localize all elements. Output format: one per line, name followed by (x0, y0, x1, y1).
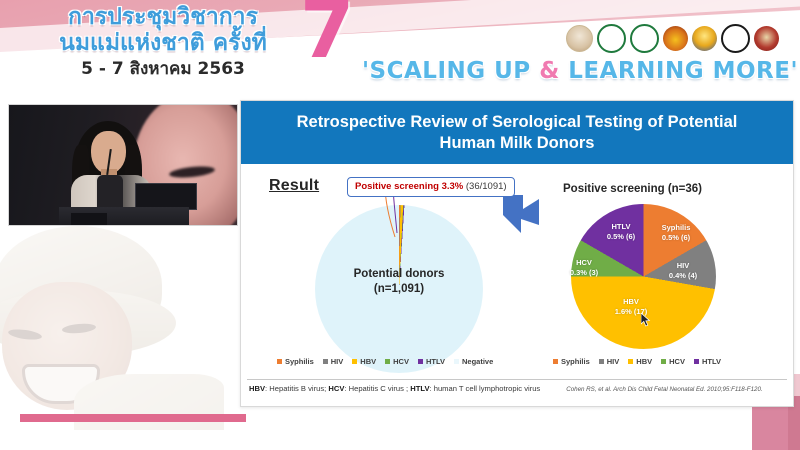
presentation-stage: การประชุมวิชาการ นมแม่แห่งชาติ ครั้งที่ … (0, 0, 800, 450)
legend-item-htlv-r: HTLV (694, 357, 721, 366)
legend-swatch-syphilis (277, 359, 282, 364)
footnote-citation: Cohen RS, et al. Arch Dis Child Fetal Ne… (566, 386, 762, 393)
thai-emblem-logo (692, 26, 717, 51)
legend-item-hcv-r: HCV (661, 357, 685, 366)
legend-label-hiv-r: HIV (607, 357, 620, 366)
slice-label-hiv-name: HIV (659, 261, 707, 271)
legend-item-hbv-r: HBV (628, 357, 652, 366)
slice-label-hcv-value: 0.3% (3) (565, 268, 603, 278)
tagline-part-1: 'SCALING UP (362, 58, 539, 84)
slice-label-hiv-value: 0.4% (4) (659, 271, 707, 281)
tagline-ampersand: & (539, 58, 560, 84)
slice-label-hcv-name: HCV (565, 258, 603, 268)
footnote-abbreviations: HBV: Hepatitis B virus; HCV: Hepatitis C… (249, 384, 540, 393)
legend-label-hiv: HIV (331, 357, 344, 366)
legend-item-hcv: HCV (385, 357, 409, 366)
edition-number: 7 (300, 0, 354, 70)
footnote-divider (247, 379, 787, 380)
left-pie-title: Potential donors (315, 267, 483, 282)
legend-label-syphilis: Syphilis (285, 357, 314, 366)
baby-watermark-image (0, 224, 236, 430)
pink-accent-bar (20, 414, 246, 422)
thai-title-line-1: การประชุมวิชาการ (18, 4, 308, 30)
callout-detail: (36/1091) (466, 181, 507, 192)
sss-thaihealth-logo (783, 26, 800, 51)
legend-label-htlv: HTLV (426, 357, 445, 366)
legend-label-hcv-r: HCV (669, 357, 685, 366)
legend-swatch-htlv-r (694, 359, 699, 364)
legend-right-chart: Syphilis HIV HBV HCV HTLV (553, 357, 721, 366)
legend-item-hbv: HBV (352, 357, 376, 366)
slice-label-hbv-name: HBV (593, 297, 669, 307)
legend-label-hbv-r: HBV (636, 357, 652, 366)
slice-label-htlv-name: HTLV (597, 222, 645, 232)
legend-label-syphilis-r: Syphilis (561, 357, 590, 366)
potential-donors-pie-label: Potential donors (n=1,091) (315, 267, 483, 297)
positive-screening-callout: Positive screening 3.3% (36/1091) (347, 177, 515, 197)
legend-swatch-htlv (418, 359, 423, 364)
slice-label-hbv: HBV 1.6% (17) (593, 297, 669, 316)
ministry-health-logo (597, 24, 626, 53)
footnote-htlv-val: : human T cell lymphotropic virus (430, 384, 541, 393)
tagline-part-2: LEARNING MORE' (560, 58, 798, 84)
conference-thai-title: การประชุมวิชาการ นมแม่แห่งชาติ ครั้งที่ … (18, 4, 308, 80)
mouse-cursor-icon (641, 313, 652, 328)
legend-label-hbv: HBV (360, 357, 376, 366)
result-heading: Result (269, 177, 319, 195)
national-org-logo (721, 24, 750, 53)
slice-label-hiv: HIV 0.4% (4) (659, 261, 707, 280)
slice-label-syphilis-name: Syphilis (649, 223, 703, 233)
legend-label-htlv-r: HTLV (702, 357, 721, 366)
flow-arrow-icon (499, 193, 545, 235)
royal-crown-logo (663, 26, 688, 51)
legend-swatch-negative (454, 359, 459, 364)
red-seal-logo (754, 26, 779, 51)
royal-seal-logo (566, 25, 593, 52)
conference-tagline: 'SCALING UP & LEARNING MORE' (362, 58, 798, 84)
slice-label-htlv: HTLV 0.5% (6) (597, 222, 645, 241)
legend-item-negative: Negative (454, 357, 493, 366)
legend-swatch-hiv (323, 359, 328, 364)
speaker-video-feed[interactable] (8, 104, 238, 226)
legend-label-negative: Negative (462, 357, 493, 366)
left-pie-subtitle: (n=1,091) (315, 282, 483, 297)
slice-label-hcv: HCV 0.3% (3) (565, 258, 603, 277)
legend-left-chart: Syphilis HIV HBV HCV HTLV Negative (277, 357, 493, 366)
slide-title-bar: Retrospective Review of Serological Test… (241, 101, 793, 164)
thai-title-line-2: นมแม่แห่งชาติ ครั้งที่ (18, 30, 308, 56)
legend-item-htlv: HTLV (418, 357, 445, 366)
slice-label-hbv-value: 1.6% (17) (593, 307, 669, 317)
legend-label-hcv: HCV (393, 357, 409, 366)
footnote-htlv-key: HTLV (410, 384, 429, 393)
positive-screening-chart-title: Positive screening (n=36) (563, 183, 702, 195)
presentation-slide: Retrospective Review of Serological Test… (240, 100, 794, 407)
legend-item-syphilis-r: Syphilis (553, 357, 590, 366)
sponsor-logo-row (566, 22, 798, 54)
health-dept-logo (630, 24, 659, 53)
slice-label-htlv-value: 0.5% (6) (597, 232, 645, 242)
legend-swatch-hcv (385, 359, 390, 364)
legend-item-syphilis: Syphilis (277, 357, 314, 366)
slide-title: Retrospective Review of Serological Test… (241, 112, 793, 154)
legend-swatch-hiv-r (599, 359, 604, 364)
legend-swatch-syphilis-r (553, 359, 558, 364)
slide-footnote: HBV: Hepatitis B virus; HCV: Hepatitis C… (249, 384, 789, 393)
callout-highlight: Positive screening 3.3% (355, 181, 463, 192)
legend-item-hiv: HIV (323, 357, 344, 366)
footnote-hbv-key: HBV (249, 384, 265, 393)
legend-swatch-hbv-r (628, 359, 633, 364)
conference-header-banner: การประชุมวิชาการ นมแม่แห่งชาติ ครั้งที่ … (0, 0, 800, 96)
footnote-hcv-val: : Hepatitis C virus ; (344, 384, 410, 393)
legend-swatch-hbv (352, 359, 357, 364)
footnote-hbv-val: : Hepatitis B virus; (265, 384, 328, 393)
slice-label-syphilis-value: 0.5% (6) (649, 233, 703, 243)
legend-swatch-hcv-r (661, 359, 666, 364)
conference-date: 5 - 7 สิงหาคม 2563 (18, 58, 308, 80)
footnote-hcv-key: HCV (328, 384, 344, 393)
slice-label-syphilis: Syphilis 0.5% (6) (649, 223, 703, 242)
laptop-on-podium (135, 183, 197, 210)
legend-item-hiv-r: HIV (599, 357, 620, 366)
